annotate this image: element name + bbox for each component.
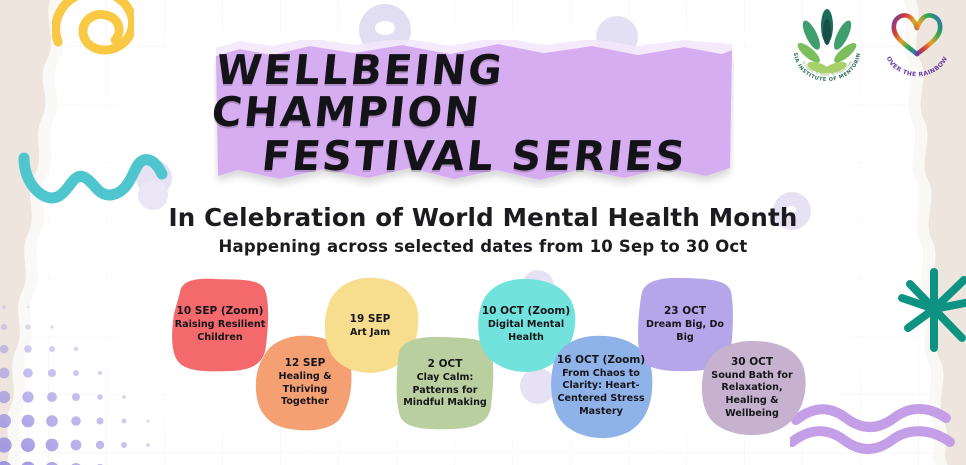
- over-the-rainbow-logo: OVER THE RAINBOW: [878, 6, 956, 82]
- title-line-2: FESTIVAL SERIES: [259, 136, 688, 178]
- event-date: 19 SEP: [350, 313, 391, 326]
- event-bubble-row: 10 SEP (Zoom) Raising Resilient Children…: [0, 272, 966, 447]
- event-bubble-8[interactable]: 30 OCT Sound Bath for Relaxation, Healin…: [696, 338, 808, 438]
- event-date: 16 OCT (Zoom): [557, 354, 645, 367]
- poster-title: WELLBEING CHAMPION FESTIVAL SERIES: [214, 40, 734, 188]
- event-name: Clay Calm: Patterns for Mindful Making: [399, 372, 491, 410]
- event-date: 10 SEP (Zoom): [177, 305, 264, 318]
- poster-subtitle: In Celebration of World Mental Health Mo…: [0, 203, 966, 232]
- svg-text:OVER THE RAINBOW: OVER THE RAINBOW: [885, 55, 950, 78]
- asia-institute-of-mentoring-logo: ASIA INSTITUTE OF MENTORING To Inspire. …: [788, 6, 866, 82]
- title-line-1: WELLBEING CHAMPION: [210, 50, 739, 134]
- event-name: Sound Bath for Relaxation, Healing & Wel…: [702, 370, 802, 421]
- event-date: 23 OCT: [664, 305, 706, 318]
- event-name: Art Jam: [350, 327, 390, 340]
- poster-canvas: WELLBEING CHAMPION FESTIVAL SERIES In Ce…: [0, 0, 966, 465]
- event-date: 30 OCT: [731, 356, 773, 369]
- event-date: 2 OCT: [428, 358, 463, 371]
- event-date: 10 OCT (Zoom): [482, 305, 570, 318]
- logo-group: ASIA INSTITUTE OF MENTORING To Inspire. …: [788, 6, 956, 82]
- title-banner: WELLBEING CHAMPION FESTIVAL SERIES: [214, 40, 734, 188]
- poster-dates-line: Happening across selected dates from 10 …: [0, 237, 966, 256]
